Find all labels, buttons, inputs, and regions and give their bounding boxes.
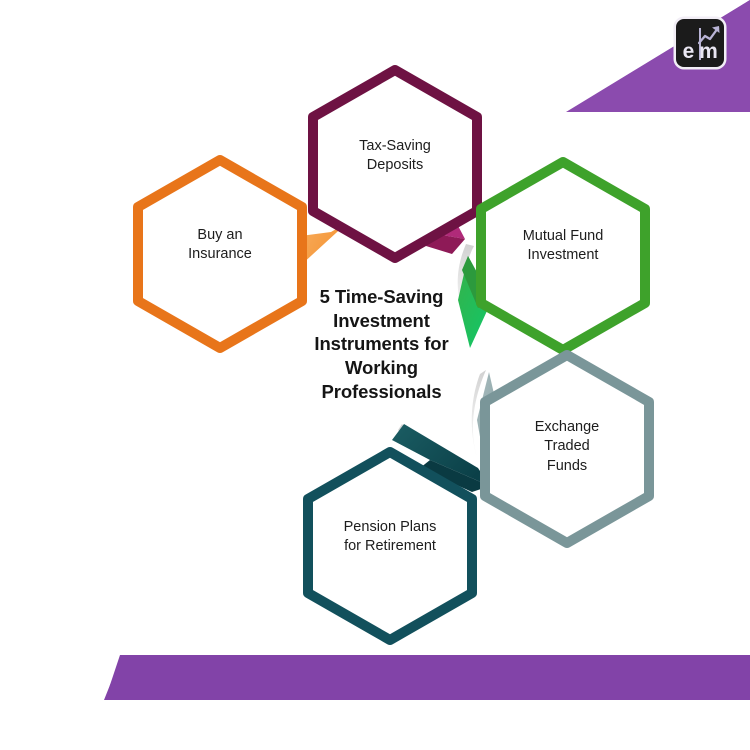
hexagon-label-exchange-traded-funds: Exchange Traded Funds bbox=[505, 418, 629, 476]
infographic-canvas: e m bbox=[0, 0, 750, 750]
page-title: 5 Time-Saving Investment Instruments for… bbox=[300, 285, 463, 403]
hexagon-label-buy-an-insurance: Buy an Insurance bbox=[158, 226, 282, 265]
hexagon-label-tax-saving-deposits: Tax-Saving Deposits bbox=[333, 137, 457, 176]
hexagon-diagram: Tax-Saving Deposits Buy an Insurance Mut… bbox=[0, 0, 750, 750]
hexagon-label-pension-plans-for-retirement: Pension Plans for Retirement bbox=[316, 518, 464, 557]
hexagon-label-mutual-fund-investment: Mutual Fund Investment bbox=[498, 227, 628, 266]
